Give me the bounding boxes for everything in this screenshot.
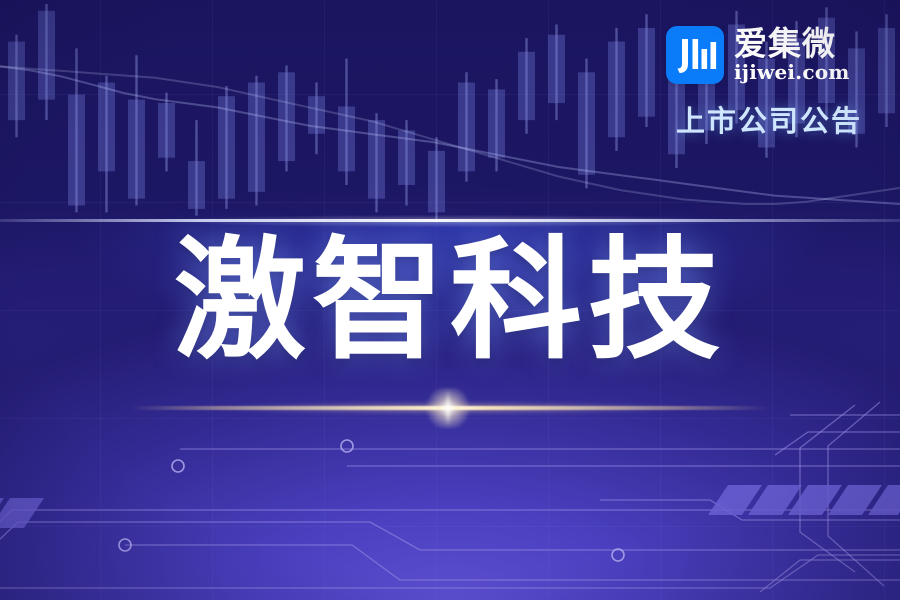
company-title: 激智科技 [0,232,900,371]
circuit-nodes [119,440,624,561]
brand-name-cn: 爱集微 [734,27,850,61]
horizontal-divider-line [0,219,900,222]
category-label: 上市公司公告 [666,98,872,140]
brand-wordmark: 爱集微 ijiwei.com [734,27,850,83]
ijiwei-logo-icon [666,26,724,84]
flare-vertical-spike [438,384,458,432]
brand-logo-row: 爱集微 ijiwei.com [666,26,872,84]
slanted-bars-right [708,485,900,515]
slanted-bars-left [0,498,44,528]
announcement-banner: 激智科技 爱集微 ijiwei.com 上市公司公告 [0,0,900,600]
brand-name-en: ijiwei.com [734,62,850,83]
brand-block: 爱集微 ijiwei.com 上市公司公告 [666,26,872,140]
